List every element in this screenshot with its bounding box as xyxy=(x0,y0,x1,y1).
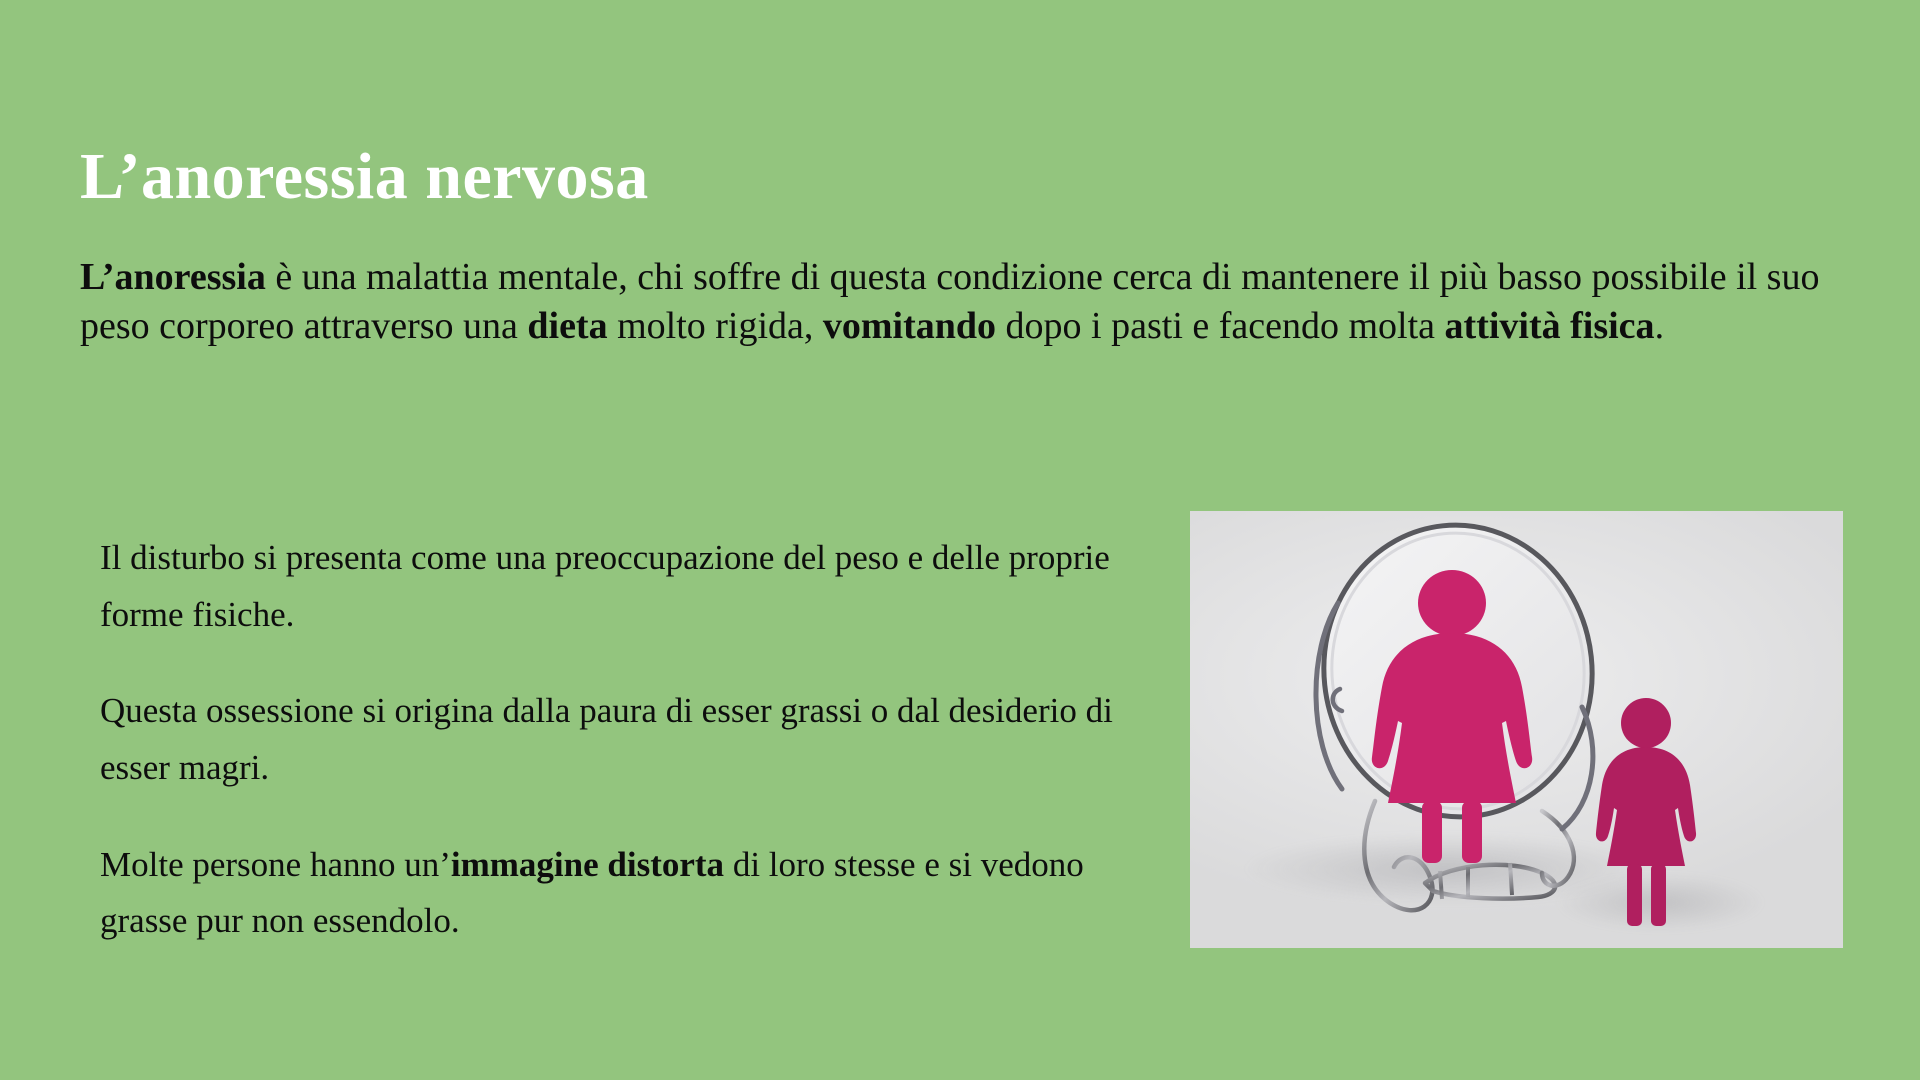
body-paragraph: Molte persone hanno un’immagine distorta… xyxy=(100,837,1130,950)
page-title: L’anoressia nervosa xyxy=(80,142,649,211)
emphasised-text: vomitando xyxy=(823,305,996,347)
emphasised-text: L’anoressia xyxy=(80,256,266,298)
text-run: . xyxy=(1655,305,1665,347)
mirror-illustration xyxy=(1190,511,1843,948)
body-paragraph: Questa ossessione si origina dalla paura… xyxy=(100,683,1130,796)
slide-canvas: L’anoressia nervosa L’anoressia è una ma… xyxy=(0,0,1920,1080)
text-run: dopo i pasti e facendo molta xyxy=(996,305,1445,347)
body-paragraph: Il disturbo si presenta come una preoccu… xyxy=(100,530,1130,643)
emphasised-text: immagine distorta xyxy=(451,845,724,884)
emphasised-text: attività fisica xyxy=(1445,305,1655,347)
mirror-base-wire xyxy=(1425,865,1555,899)
mirror-distorted-body-image-photo xyxy=(1190,511,1843,948)
slim-figure xyxy=(1596,698,1696,926)
text-run: molto rigida, xyxy=(608,305,823,347)
intro-paragraph: L’anoressia è una malattia mentale, chi … xyxy=(80,253,1870,350)
body-text-column: Il disturbo si presenta come una preoccu… xyxy=(100,530,1130,950)
text-run: Molte persone hanno un’ xyxy=(100,845,451,884)
text-run: Il disturbo si presenta come una preoccu… xyxy=(100,538,1110,634)
emphasised-text: dieta xyxy=(527,305,607,347)
text-run: Questa ossessione si origina dalla paura… xyxy=(100,691,1113,787)
